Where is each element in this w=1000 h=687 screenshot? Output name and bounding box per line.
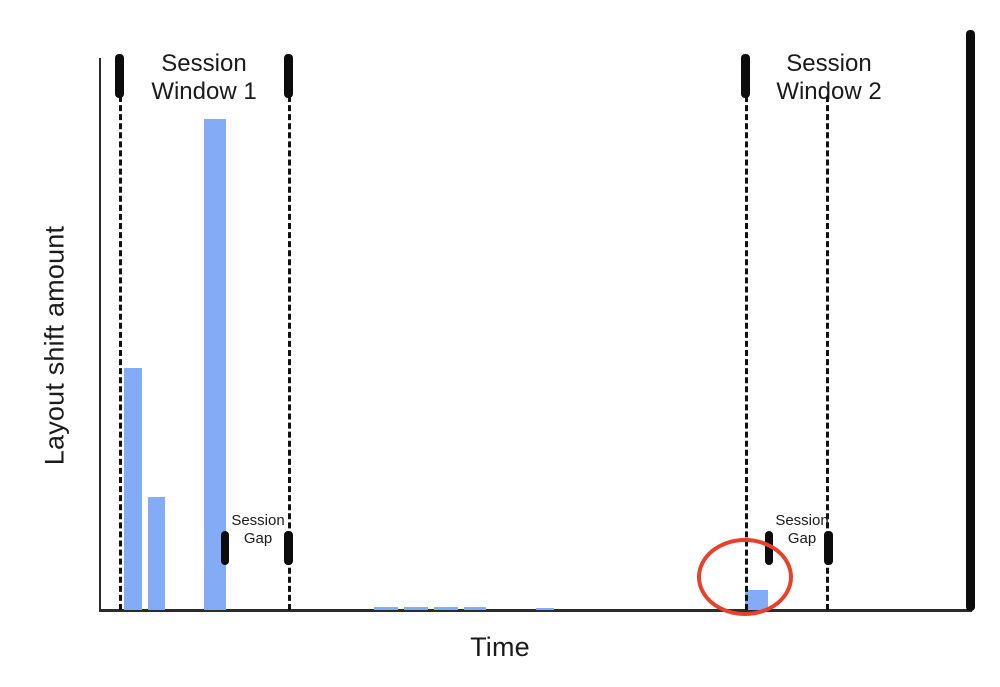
bar-shift-7 [464, 607, 486, 610]
highlight-ellipse-annotation [697, 538, 793, 616]
bar-shift-1 [124, 368, 142, 610]
session-gap-1-label: Session Gap [226, 512, 290, 547]
bar-shift-2 [148, 497, 165, 610]
session-window-1-end-marker [284, 54, 293, 98]
chart-right-boundary-marker [966, 30, 975, 611]
session-window-1-label: Session Window 1 [136, 50, 272, 107]
session-gap-2-label: Session Gap [770, 512, 834, 547]
bar-shift-5 [404, 607, 428, 610]
session-window-2-start-marker [741, 54, 750, 98]
y-axis-line [99, 58, 101, 611]
x-axis-label: Time [0, 632, 1000, 663]
bar-shift-4 [374, 607, 398, 610]
session-window-1-start-line [119, 96, 122, 610]
y-axis-label: Layout shift amount [40, 196, 71, 496]
bar-shift-8 [536, 608, 554, 610]
session-window-1-start-marker [115, 54, 124, 98]
session-window-2-start-line [745, 96, 748, 610]
layout-shift-session-window-chart: Layout shift amount Time Session Window … [0, 0, 1000, 687]
session-window-2-label: Session Window 2 [761, 50, 897, 107]
bar-shift-6 [434, 607, 458, 610]
